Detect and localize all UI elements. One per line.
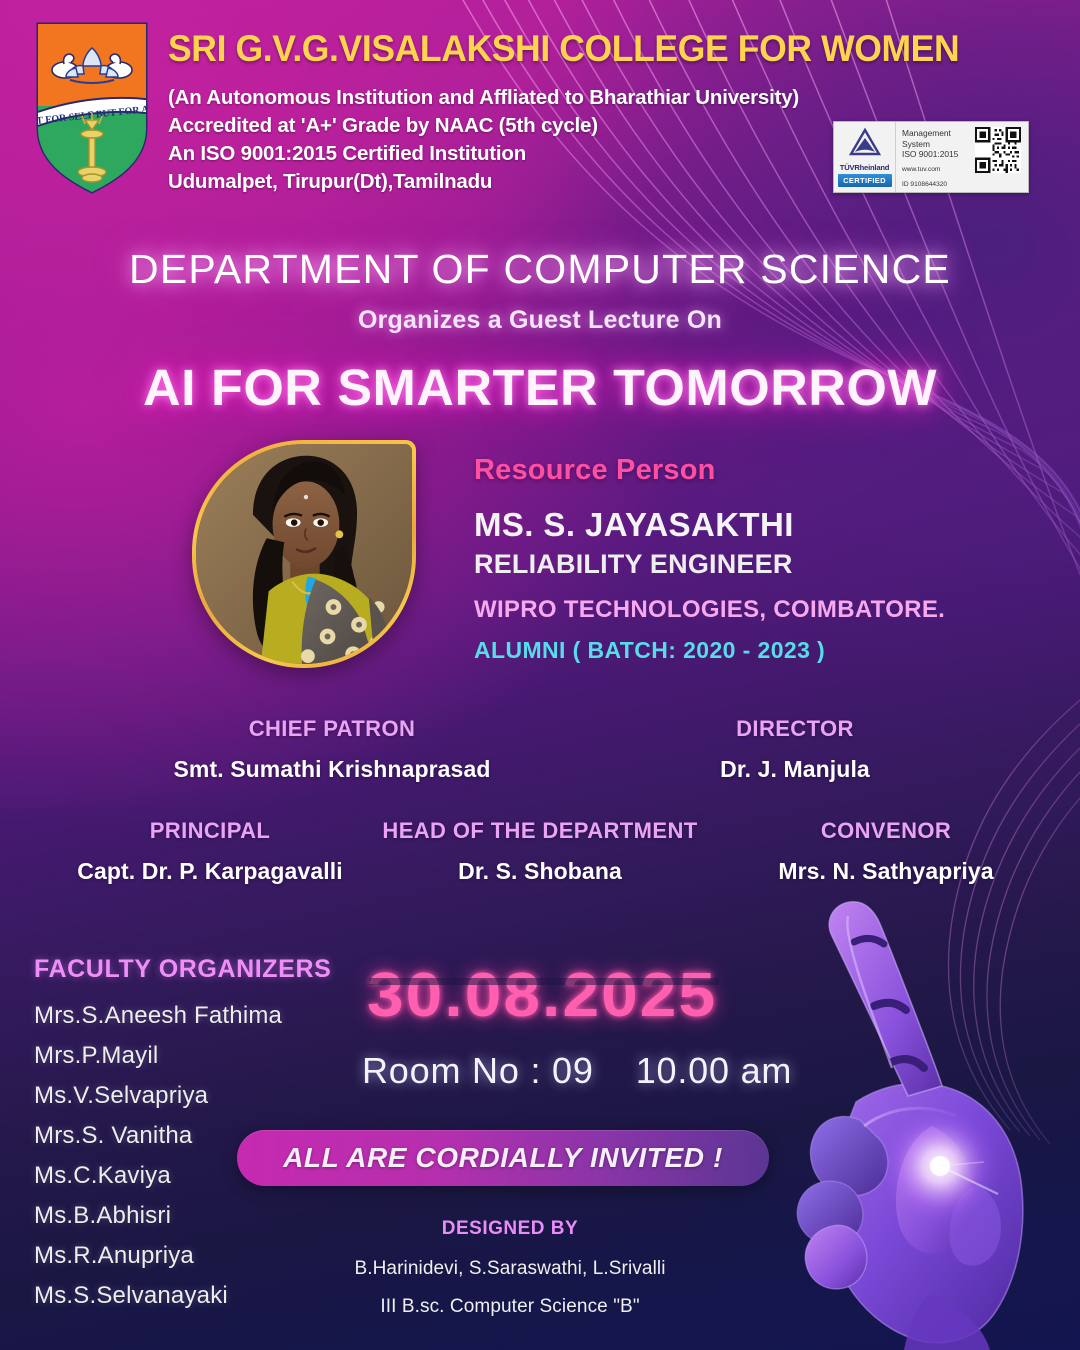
college-name: SRI G.V.G.VISALAKSHI COLLEGE FOR WOMEN <box>168 28 959 70</box>
invitation-banner: ALL ARE CORDIALLY INVITED ! <box>237 1130 769 1186</box>
college-crest-icon: NOT FOR SELF BUT FOR ALL <box>30 18 154 198</box>
dignitary-head-of-department: HEAD OF THE DEPARTMENT Dr. S. Shobana <box>370 818 710 885</box>
college-subtitle-line-1: (An Autonomous Institution and Affliated… <box>168 84 799 112</box>
faculty-organizers-title: FACULTY ORGANIZERS <box>34 955 331 984</box>
tuv-brand-label: TÜVRheinland <box>840 163 890 172</box>
dignitary-chief-patron: CHIEF PATRON Smt. Sumathi Krishnaprasad <box>150 716 514 783</box>
iso-standard-block: Management System ISO 9001:2015 www.tuv.… <box>896 122 972 192</box>
designed-by-block: DESIGNED BY B.Harinidevi, S.Saraswathi, … <box>280 1218 740 1318</box>
tuv-triangle-icon <box>848 127 882 162</box>
lecture-topic-title: AI FOR SMARTER TOMORROW <box>0 358 1080 417</box>
resource-person-name: MS. S. JAYASAKTHI <box>474 506 794 544</box>
list-item: Mrs.S.Aneesh Fathima <box>34 996 282 1036</box>
iso-line-standard: ISO 9001:2015 <box>902 149 968 160</box>
resource-person-alumni: ALUMNI ( BATCH: 2020 - 2023 ) <box>474 637 825 664</box>
iso-line-system: System <box>902 139 968 150</box>
iso-line-management: Management <box>902 128 968 139</box>
poster-canvas: NOT FOR SELF BUT FOR ALL SRI G.V.G.VISAL… <box>0 0 1080 1350</box>
tuv-certified-label: CERTIFIED <box>838 174 892 187</box>
department-title: DEPARTMENT OF COMPUTER SCIENCE <box>0 246 1080 293</box>
college-subtitle-block: (An Autonomous Institution and Affliated… <box>168 84 799 196</box>
dignitary-role: DIRECTOR <box>610 716 980 742</box>
event-date: 30.08.2025 <box>367 960 717 1031</box>
list-item: Ms.S.Selvanayaki <box>34 1276 282 1316</box>
poster-header: NOT FOR SELF BUT FOR ALL SRI G.V.G.VISAL… <box>0 0 1080 205</box>
college-subtitle-line-3: An ISO 9001:2015 Certified Institution <box>168 140 799 168</box>
iso-id: ID 9108644320 <box>902 181 968 189</box>
room-and-time: Room No : 09 10.00 am <box>362 1050 792 1092</box>
organizes-subtitle: Organizes a Guest Lecture On <box>0 306 1080 335</box>
resource-person-label: Resource Person <box>474 454 716 487</box>
qr-code-icon <box>972 122 1028 192</box>
event-time: 10.00 am <box>636 1050 793 1092</box>
iso-certification-badge: TÜVRheinland CERTIFIED Management System… <box>833 121 1029 193</box>
dignitary-role: CONVENOR <box>718 818 1054 844</box>
resource-person-company: WIPRO TECHNOLOGIES, COIMBATORE. <box>474 596 945 624</box>
list-item: Ms.B.Abhisri <box>34 1196 282 1236</box>
room-number: Room No : 09 <box>362 1050 594 1092</box>
designer-names: B.Harinidevi, S.Saraswathi, L.Srivalli <box>280 1258 740 1280</box>
tuv-rheinland-block: TÜVRheinland CERTIFIED <box>834 122 896 192</box>
dignitary-person: Smt. Sumathi Krishnaprasad <box>150 756 514 783</box>
invitation-text: ALL ARE CORDIALLY INVITED ! <box>283 1142 723 1174</box>
college-subtitle-line-4: Udumalpet, Tirupur(Dt),Tamilnadu <box>168 168 799 196</box>
resource-person-designation: RELIABILITY ENGINEER <box>474 549 793 580</box>
dignitary-role: PRINCIPAL <box>28 818 392 844</box>
dignitary-role: HEAD OF THE DEPARTMENT <box>370 818 710 844</box>
dignitary-person: Capt. Dr. P. Karpagavalli <box>28 858 392 885</box>
college-subtitle-line-2: Accredited at 'A+' Grade by NAAC (5th cy… <box>168 112 799 140</box>
dignitary-principal: PRINCIPAL Capt. Dr. P. Karpagavalli <box>28 818 392 885</box>
list-item: Ms.V.Selvapriya <box>34 1076 282 1116</box>
designed-by-label: DESIGNED BY <box>280 1218 740 1240</box>
speaker-photo <box>196 444 412 664</box>
speaker-photo-frame <box>192 440 416 668</box>
dignitary-director: DIRECTOR Dr. J. Manjula <box>610 716 980 783</box>
dignitary-person: Dr. S. Shobana <box>370 858 710 885</box>
iso-url: www.tuv.com <box>902 166 968 174</box>
list-item: Mrs.P.Mayil <box>34 1036 282 1076</box>
dignitary-person: Mrs. N. Sathyapriya <box>718 858 1054 885</box>
dignitary-convenor: CONVENOR Mrs. N. Sathyapriya <box>718 818 1054 885</box>
dignitary-role: CHIEF PATRON <box>150 716 514 742</box>
dignitary-person: Dr. J. Manjula <box>610 756 980 783</box>
designer-class: III B.sc. Computer Science "B" <box>280 1296 740 1318</box>
robot-hand-illustration <box>744 890 1080 1350</box>
list-item: Ms.R.Anupriya <box>34 1236 282 1276</box>
